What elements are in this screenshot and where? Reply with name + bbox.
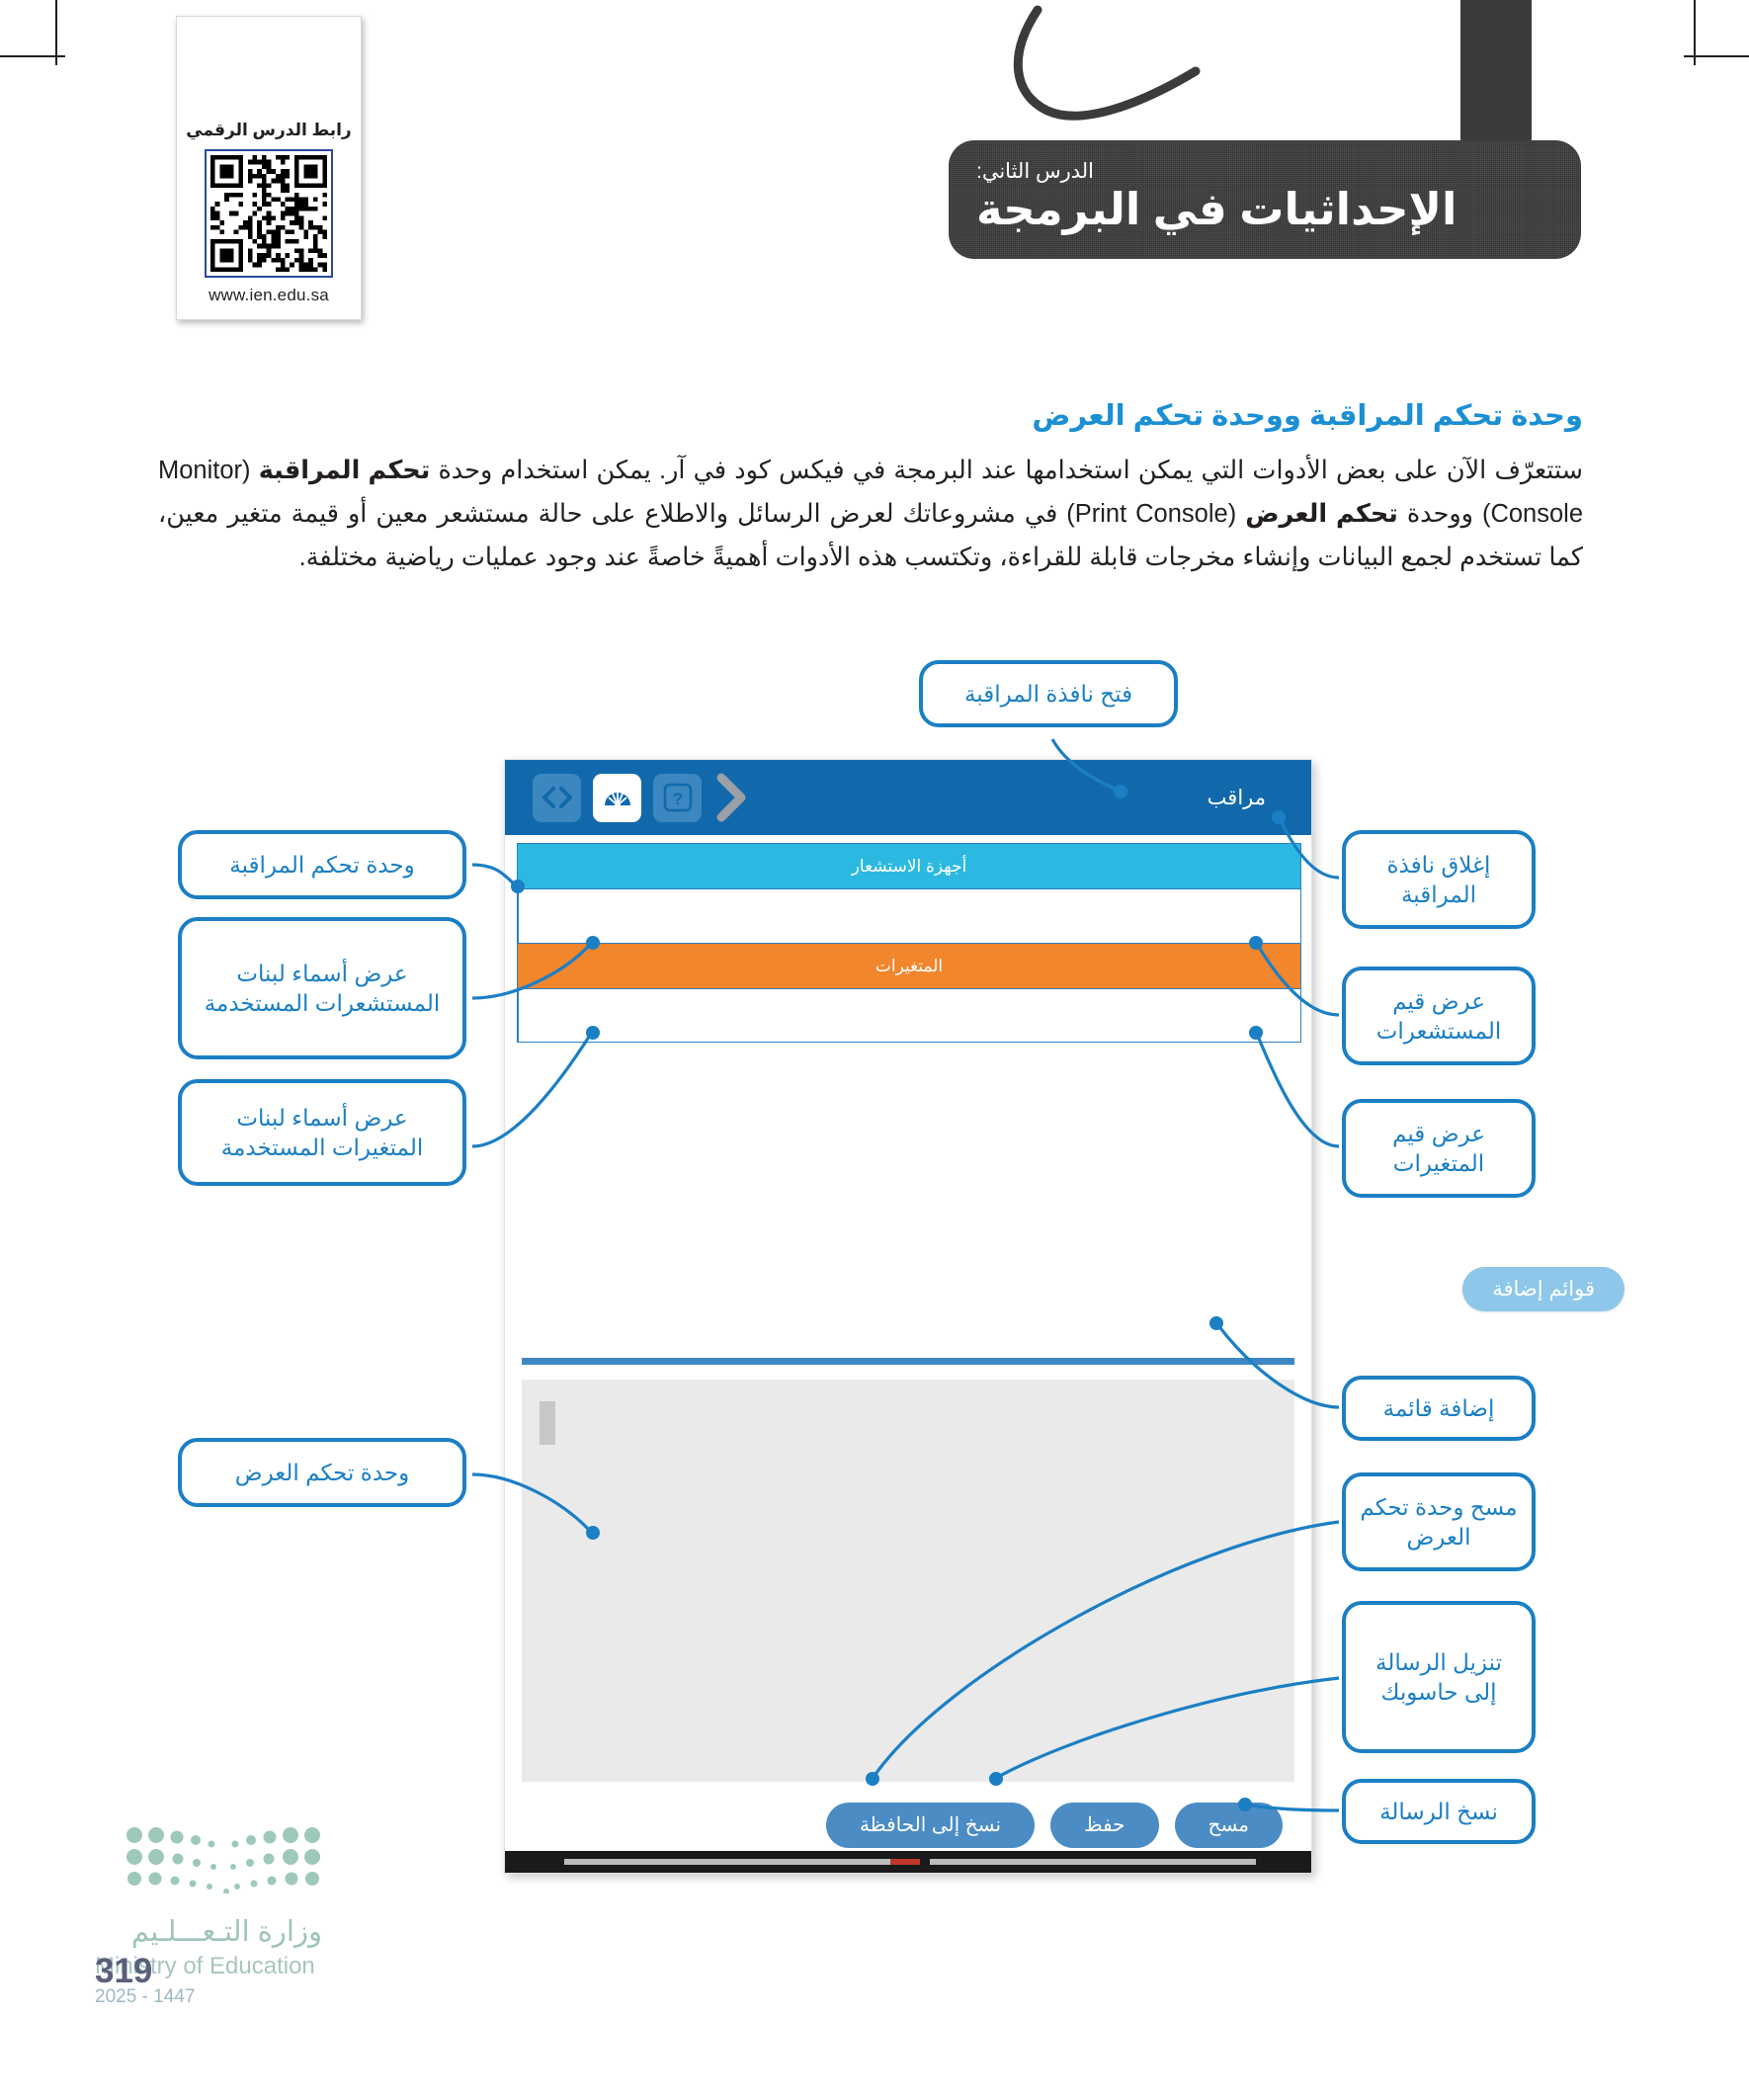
section-heading: وحدة تحكم المراقبة ووحدة تحكم العرض (160, 399, 1583, 434)
callout-add-list: إضافة قائمة (1342, 1376, 1536, 1441)
callout-clear-console: مسح وحدة تحكم العرض (1342, 1472, 1536, 1571)
text-caret-icon (540, 1401, 555, 1445)
print-console-buttons: مسح حفظ نسخ إلى الحافظة (522, 1797, 1294, 1854)
callout-variable-block-names: عرض أسماء لبنات المتغيرات المستخدمة (178, 1079, 466, 1186)
ministry-name-ar: وزارة التـعـــلـيم (95, 1914, 322, 1949)
print-console-output[interactable] (522, 1380, 1294, 1782)
sensor-name-cell (909, 889, 1300, 943)
variable-name-cell (909, 989, 1300, 1042)
sensor-value-cell (518, 889, 909, 943)
callout-open-monitor: فتح نافذة المراقبة (919, 660, 1178, 727)
lesson-title: الإحداثيات في البرمجة (976, 186, 1457, 232)
variables-header-row: المتغيرات (517, 943, 1301, 988)
print-console-divider (522, 1358, 1294, 1365)
lesson-banner-box: الدرس الثاني: الإحداثيات في البرمجة (949, 140, 1581, 259)
qr-code-icon[interactable] (205, 149, 333, 278)
app-title: مراقب (1208, 786, 1266, 810)
callout-sensor-values: عرض قيم المستشعرات (1342, 966, 1536, 1065)
variables-value-row[interactable] (517, 988, 1301, 1043)
add-list-button[interactable]: قوائم إضافة (1462, 1267, 1624, 1311)
callout-print-console: وحدة تحكم العرض (178, 1438, 466, 1507)
lesson-banner: الدرس الثاني: الإحداثيات في البرمجة (889, 0, 1581, 326)
callout-monitor-console: وحدة تحكم المراقبة (178, 830, 466, 899)
callout-download-message: تنزيل الرسالة إلى حاسوبك (1342, 1601, 1536, 1753)
help-question-icon[interactable]: ? (653, 774, 702, 822)
ministry-dots-icon (125, 1826, 322, 1893)
close-chevron-icon[interactable] (706, 770, 757, 825)
sensors-header-row: أجهزة الاستشعار (517, 843, 1301, 888)
monitor-table: أجهزة الاستشعار المتغيرات (517, 843, 1301, 1043)
callout-sensor-block-names: عرض أسماء لبنات المستشعرات المستخدمة (178, 917, 466, 1059)
crop-mark (1684, 55, 1749, 57)
code-brackets-icon[interactable] (533, 774, 581, 822)
monitor-console-icon[interactable] (593, 774, 641, 822)
callout-close-monitor: إغلاق نافذة المراقبة (1342, 830, 1536, 929)
plug-icon (1460, 0, 1532, 148)
lesson-eyebrow: الدرس الثاني: (976, 161, 1094, 182)
clear-button[interactable]: مسح (1175, 1803, 1283, 1848)
qr-card-label: رابط الدرس الرقمي (186, 121, 351, 140)
callout-variable-values: عرض قيم المتغيرات (1342, 1099, 1536, 1198)
crop-mark (0, 55, 65, 57)
digital-lesson-qr-card: رابط الدرس الرقمي www.ien.edu.sa (176, 16, 362, 320)
callout-copy-message: نسخ الرسالة (1342, 1779, 1536, 1844)
device-bottom-bar (505, 1851, 1311, 1873)
save-button[interactable]: حفظ (1050, 1803, 1158, 1848)
page-number: 319 (95, 1952, 152, 1991)
textbook-page: رابط الدرس الرقمي www.ien.edu.sa الدرس ا… (0, 0, 1749, 2100)
sensors-value-row[interactable] (517, 888, 1301, 943)
qr-card-url: www.ien.edu.sa (208, 286, 329, 305)
variable-value-cell (518, 989, 909, 1042)
section-paragraph: ستتعرّف الآن على بعض الأدوات التي يمكن ا… (158, 450, 1583, 580)
app-toolbar: مراقب ? (505, 760, 1311, 835)
svg-text:?: ? (672, 790, 682, 808)
copy-to-clipboard-button[interactable]: نسخ إلى الحافظة (826, 1803, 1035, 1848)
